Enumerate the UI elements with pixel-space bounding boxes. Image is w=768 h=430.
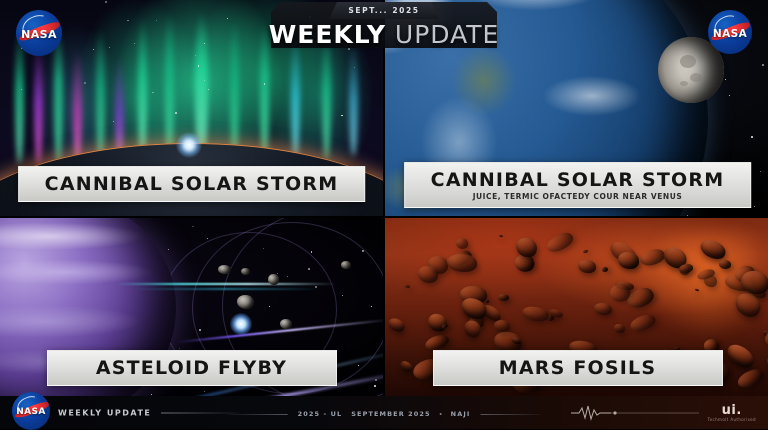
mars-rock bbox=[695, 289, 699, 292]
footer-edition-code: 2025 - UL bbox=[298, 410, 343, 418]
brand-subtitle: Techmolt Authorised bbox=[707, 418, 756, 422]
light-trail bbox=[130, 288, 322, 290]
footer-month-year: SEPTEMBER 2025 bbox=[351, 410, 430, 418]
nasa-logo-icon-footer[interactable]: NASA bbox=[12, 392, 50, 430]
card-title-banner: ASTELOID FLYBY bbox=[47, 350, 337, 386]
mars-rock bbox=[386, 316, 406, 333]
star bbox=[192, 226, 194, 228]
brand-logo[interactable]: ui. Techmolt Authorised bbox=[707, 404, 756, 422]
star bbox=[105, 1, 106, 2]
mars-rock bbox=[618, 252, 639, 269]
mars-rock bbox=[484, 299, 489, 303]
light-trail bbox=[115, 283, 337, 285]
star bbox=[134, 43, 135, 44]
card-mars[interactable]: MARS FOSILS bbox=[385, 218, 768, 398]
star bbox=[751, 136, 753, 138]
star bbox=[754, 206, 755, 207]
brand-word: ui. bbox=[722, 404, 742, 417]
star bbox=[113, 121, 114, 122]
star bbox=[762, 64, 764, 66]
star bbox=[760, 171, 761, 172]
waveform-icon bbox=[571, 404, 699, 422]
footer-right-group: ui. Techmolt Authorised bbox=[571, 404, 756, 422]
star bbox=[168, 249, 170, 251]
card-title: MARS FOSILS bbox=[499, 357, 656, 379]
mars-rock bbox=[593, 303, 612, 316]
card-title: ASTELOID FLYBY bbox=[96, 357, 287, 379]
card-title: CANNIBAL SOLAR STORM bbox=[45, 173, 339, 195]
star bbox=[687, 215, 688, 216]
star bbox=[341, 115, 343, 117]
footer-author-code: NAJI bbox=[451, 410, 471, 418]
star bbox=[21, 89, 22, 90]
mars-rock bbox=[614, 324, 625, 334]
nasa-logo-text: NASA bbox=[16, 28, 62, 41]
star bbox=[204, 80, 205, 81]
mars-rock bbox=[544, 229, 576, 256]
star bbox=[204, 43, 205, 44]
news-card-grid: CANNIBAL SOLAR STORM CANNIBAL SOLAR STOR… bbox=[0, 0, 768, 396]
star bbox=[84, 82, 86, 84]
mars-rock bbox=[724, 341, 758, 371]
asteroid bbox=[268, 274, 279, 285]
star bbox=[127, 20, 129, 22]
footer-left-group: WEEKLY UPDATE bbox=[58, 408, 239, 417]
card-asteroid[interactable]: ASTELOID FLYBY bbox=[0, 218, 383, 398]
star bbox=[348, 48, 350, 50]
card-subtitle: JUICE, TERMIC OFACTEDY COUR NEAR VENUS bbox=[431, 192, 725, 201]
card-title: CANNIBAL SOLAR STORM bbox=[431, 169, 725, 191]
mars-rock bbox=[494, 320, 510, 332]
star bbox=[729, 95, 730, 96]
asteroid bbox=[341, 261, 351, 269]
star bbox=[207, 238, 208, 239]
star bbox=[109, 47, 110, 48]
sun-flare-icon bbox=[176, 132, 202, 158]
mars-rock bbox=[698, 238, 728, 262]
mars-rock bbox=[577, 260, 596, 274]
mars-rock bbox=[719, 260, 732, 270]
mars-rock bbox=[601, 266, 609, 274]
mars-rock bbox=[499, 234, 504, 237]
star bbox=[198, 65, 199, 66]
star bbox=[156, 20, 157, 21]
star bbox=[175, 112, 177, 114]
star bbox=[152, 92, 154, 94]
mars-rock bbox=[497, 294, 508, 302]
footer-center-group: 2025 - UL SEPTEMBER 2025 NAJI bbox=[298, 410, 471, 418]
footer-wing-left bbox=[228, 414, 288, 415]
card-title-banner: MARS FOSILS bbox=[433, 350, 723, 386]
footer-label: WEEKLY UPDATE bbox=[58, 408, 151, 417]
star bbox=[264, 83, 266, 85]
star bbox=[204, 391, 205, 392]
mars-rock bbox=[521, 305, 549, 322]
mars-rock bbox=[405, 285, 410, 288]
mars-rock bbox=[628, 311, 657, 334]
mars-rock bbox=[740, 270, 768, 295]
mars-rock bbox=[762, 323, 768, 351]
mars-rock bbox=[447, 254, 477, 273]
nasa-logo-icon-right[interactable]: NASA bbox=[708, 10, 752, 54]
nasa-logo-text: NASA bbox=[12, 407, 50, 417]
star bbox=[336, 14, 338, 16]
footer-wing-right bbox=[480, 414, 540, 415]
page-footer: NASA WEEKLY UPDATE 2025 - UL SEPTEMBER 2… bbox=[0, 396, 768, 429]
mars-rock bbox=[735, 365, 766, 391]
mars-rock bbox=[455, 237, 469, 249]
mars-rock bbox=[418, 265, 438, 282]
mars-rock bbox=[638, 246, 666, 269]
star bbox=[309, 16, 311, 18]
star bbox=[208, 89, 209, 90]
asteroid bbox=[218, 265, 231, 274]
star bbox=[227, 18, 228, 19]
star bbox=[354, 67, 355, 68]
mars-rock bbox=[582, 249, 588, 254]
asteroid bbox=[280, 319, 292, 329]
footer-dot bbox=[440, 413, 442, 415]
star bbox=[195, 55, 196, 56]
nasa-logo-icon-left[interactable]: NASA bbox=[16, 10, 62, 56]
nasa-logo-text: NASA bbox=[708, 28, 752, 40]
star bbox=[93, 49, 95, 51]
star bbox=[336, 8, 337, 9]
card-title-banner: CANNIBAL SOLAR STORM JUICE, TERMIC OFACT… bbox=[404, 162, 752, 208]
card-title-banner: CANNIBAL SOLAR STORM bbox=[18, 166, 366, 202]
